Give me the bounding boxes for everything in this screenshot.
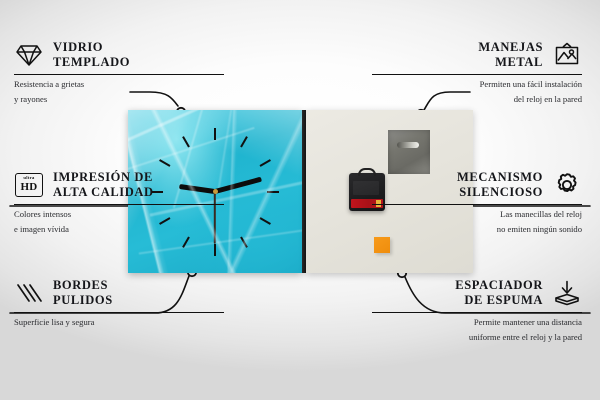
- foam-spacer-arrow-icon: [552, 279, 582, 307]
- feature-rule: [372, 74, 582, 75]
- feature-desc-line2: no emiten ningún sonido: [372, 224, 582, 235]
- feature-desc-line1: Colores intensos: [14, 209, 224, 220]
- feature-title-line2: DE ESPUMA: [455, 293, 543, 308]
- feature-desc-line1: Resistencia a grietas: [14, 79, 224, 90]
- feature-title-line1: BORDES: [53, 278, 113, 293]
- feature-mecanismo-silencioso: MECANISMO SILENCIOSO Las manecillas del …: [372, 170, 582, 235]
- polished-edges-icon: [14, 279, 44, 307]
- feature-title-line2: TEMPLADO: [53, 55, 130, 70]
- ultra-hd-icon-large-text: HD: [20, 182, 37, 193]
- feature-vidrio-templado: VIDRIO TEMPLADO Resistencia a grietas y …: [14, 40, 224, 105]
- feature-title-line2: ALTA CALIDAD: [53, 185, 154, 200]
- feature-desc-line1: Permite mantener una distancia: [372, 317, 582, 328]
- feature-header: ultra HD IMPRESIÓN DE ALTA CALIDAD: [14, 170, 224, 199]
- feature-desc-line2: del reloj en la pared: [372, 94, 582, 105]
- picture-frame-hanger-icon: [552, 41, 582, 69]
- feature-rule: [14, 204, 224, 205]
- diamond-icon: [14, 41, 44, 69]
- metal-hanger-plate: [388, 130, 430, 174]
- hanger-slot: [397, 142, 419, 148]
- feature-rule: [14, 74, 224, 75]
- gear-icon: [552, 171, 582, 199]
- feature-desc-line2: y rayones: [14, 94, 224, 105]
- feature-title-line2: METAL: [478, 55, 543, 70]
- feature-rule: [14, 312, 224, 313]
- feature-title-line1: MANEJAS: [478, 40, 543, 55]
- infographic-canvas: VIDRIO TEMPLADO Resistencia a grietas y …: [0, 0, 600, 400]
- feature-title-line2: SILENCIOSO: [457, 185, 543, 200]
- feature-header: VIDRIO TEMPLADO: [14, 40, 224, 69]
- feature-desc-line1: Superficie lisa y segura: [14, 317, 224, 328]
- feature-title-line1: IMPRESIÓN DE: [53, 170, 154, 185]
- feature-header: ESPACIADOR DE ESPUMA: [372, 278, 582, 307]
- feature-title-line1: ESPACIADOR: [455, 278, 543, 293]
- ultra-hd-icon: ultra HD: [14, 171, 44, 199]
- feature-desc-line2: uniforme entre el reloj y la pared: [372, 332, 582, 343]
- feature-header: BORDES PULIDOS: [14, 278, 224, 307]
- feature-rule: [372, 312, 582, 313]
- feature-header: MANEJAS METAL: [372, 40, 582, 69]
- feature-title-line2: PULIDOS: [53, 293, 113, 308]
- feature-header: MECANISMO SILENCIOSO: [372, 170, 582, 199]
- feature-rule: [372, 204, 582, 205]
- feature-title-line1: VIDRIO: [53, 40, 130, 55]
- feature-desc-line1: Las manecillas del reloj: [372, 209, 582, 220]
- feature-desc-line1: Permiten una fácil instalación: [372, 79, 582, 90]
- feature-espaciador-espuma: ESPACIADOR DE ESPUMA Permite mantener un…: [372, 278, 582, 343]
- feature-bordes-pulidos: BORDES PULIDOS Superficie lisa y segura: [14, 278, 224, 332]
- feature-impresion-alta-calidad: ultra HD IMPRESIÓN DE ALTA CALIDAD Color…: [14, 170, 224, 235]
- foam-spacer: [374, 237, 390, 253]
- feature-title-line1: MECANISMO: [457, 170, 543, 185]
- feature-desc-line2: e imagen vívida: [14, 224, 224, 235]
- feature-manejas-metal: MANEJAS METAL Permiten una fácil instala…: [372, 40, 582, 105]
